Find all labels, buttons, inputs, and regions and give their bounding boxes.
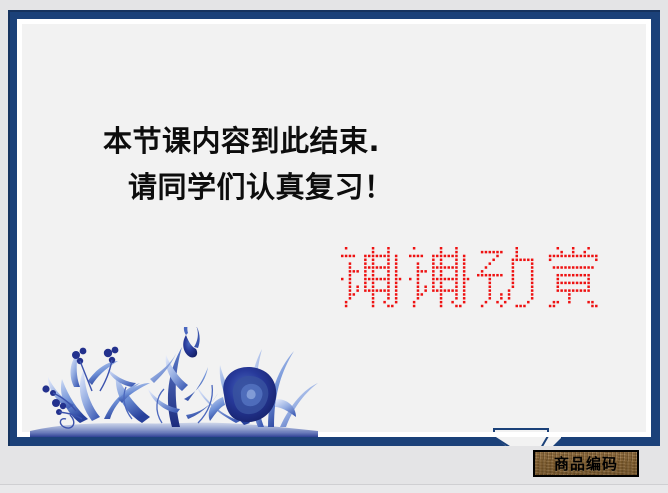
page-canvas: 本节课内容到此结束. 请同学们认真复习！ — [0, 0, 668, 493]
slide-frame-left-shade — [8, 10, 10, 446]
slide-body-text: 本节课内容到此结束. 请同学们认真复习！ — [8, 118, 660, 210]
slide-body-line-2: 请同学们认真复习！ — [8, 164, 660, 210]
blue-floral-ornament — [22, 327, 322, 437]
product-code-tag[interactable]: 商品编码 — [533, 450, 639, 477]
callout-tail — [493, 428, 563, 446]
product-code-tag-label: 商品编码 — [554, 453, 618, 474]
thanks-text-dotmatrix — [338, 242, 618, 320]
slide-frame-top-shade — [8, 10, 660, 12]
slide-frame-right — [651, 10, 660, 446]
slide-body-line-1: 本节课内容到此结束. — [8, 118, 660, 164]
presentation-slide[interactable]: 本节课内容到此结束. 请同学们认真复习！ — [8, 10, 660, 446]
page-bottom-strip — [0, 485, 668, 493]
